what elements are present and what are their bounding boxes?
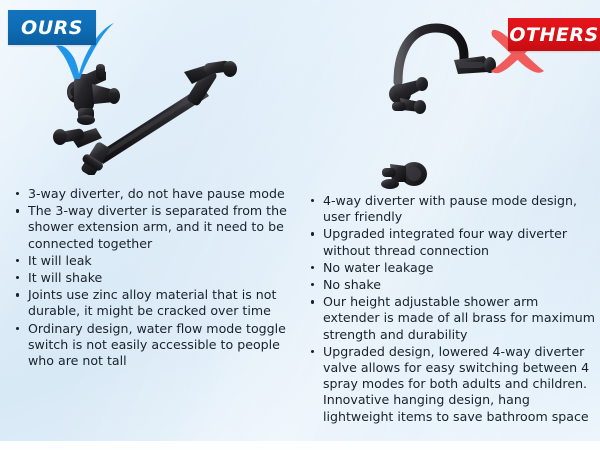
list-item: 3-way diverter, do not have pause mode — [14, 186, 292, 202]
bullet-dot-icon — [16, 327, 19, 330]
list-item: Our height adjustable shower arm extende… — [309, 294, 597, 343]
product-image-integrated-shower-arm-extender — [372, 18, 504, 190]
bullet-dot-icon — [311, 232, 314, 235]
ours-banner-label: OURS — [21, 17, 83, 39]
ours-banner: OURS — [8, 10, 96, 45]
others-cons-list: 3-way diverter, do not have pause mode T… — [14, 186, 292, 369]
bullet-dot-icon — [16, 209, 19, 212]
others-cons-column: 3-way diverter, do not have pause mode T… — [14, 186, 292, 370]
gooseneck-curve — [398, 28, 464, 82]
others-banner-label: OTHERS — [509, 24, 598, 46]
bullet-dot-icon — [16, 192, 19, 195]
ours-pros-column: 4-way diverter with pause mode design, u… — [309, 193, 597, 426]
bullet-dot-icon — [16, 276, 19, 279]
bullet-dot-icon — [311, 266, 314, 269]
list-item-text: It will leak — [28, 253, 92, 268]
list-item: The 3-way diverter is separated from the… — [14, 203, 292, 252]
bullet-dot-icon — [311, 350, 314, 353]
list-item: No shake — [309, 277, 597, 293]
list-item-text: The 3-way diverter is separated from the… — [28, 203, 287, 250]
list-item: It will leak — [14, 253, 292, 269]
list-item: Upgraded design, lowered 4-way diverter … — [309, 344, 597, 425]
bullet-dot-icon — [16, 293, 19, 296]
wall-mount-inlet — [381, 162, 427, 189]
list-item-text: Upgraded integrated four way diverter wi… — [323, 226, 567, 257]
list-item: 4-way diverter with pause mode design, u… — [309, 193, 597, 225]
list-item: No water leakage — [309, 260, 597, 276]
list-item-text: 4-way diverter with pause mode design, u… — [323, 193, 577, 224]
list-item-text: Our height adjustable shower arm extende… — [323, 294, 595, 341]
list-item: Ordinary design, water flow mode toggle … — [14, 321, 292, 370]
list-item-text: Upgraded design, lowered 4-way diverter … — [323, 344, 589, 424]
list-item-text: Ordinary design, water flow mode toggle … — [28, 321, 286, 368]
list-item-text: No water leakage — [323, 260, 434, 275]
list-item: Upgraded integrated four way diverter wi… — [309, 226, 597, 258]
list-item-text: 3-way diverter, do not have pause mode — [28, 186, 285, 201]
list-item: Joints use zinc alloy material that is n… — [14, 287, 292, 319]
others-banner: OTHERS — [508, 18, 600, 51]
list-item-text: No shake — [323, 277, 381, 292]
bullet-dot-icon — [311, 283, 314, 286]
comparison-infographic: OURS OTHERS — [0, 0, 600, 450]
list-item-text: It will shake — [28, 270, 102, 285]
list-item: It will shake — [14, 270, 292, 286]
bullet-dot-icon — [311, 199, 314, 202]
bullet-dot-icon — [16, 259, 19, 262]
bullet-dot-icon — [311, 300, 314, 303]
bottom-white-strip — [0, 441, 600, 450]
list-item-text: Joints use zinc alloy material that is n… — [28, 287, 276, 318]
ours-pros-list: 4-way diverter with pause mode design, u… — [309, 193, 597, 425]
